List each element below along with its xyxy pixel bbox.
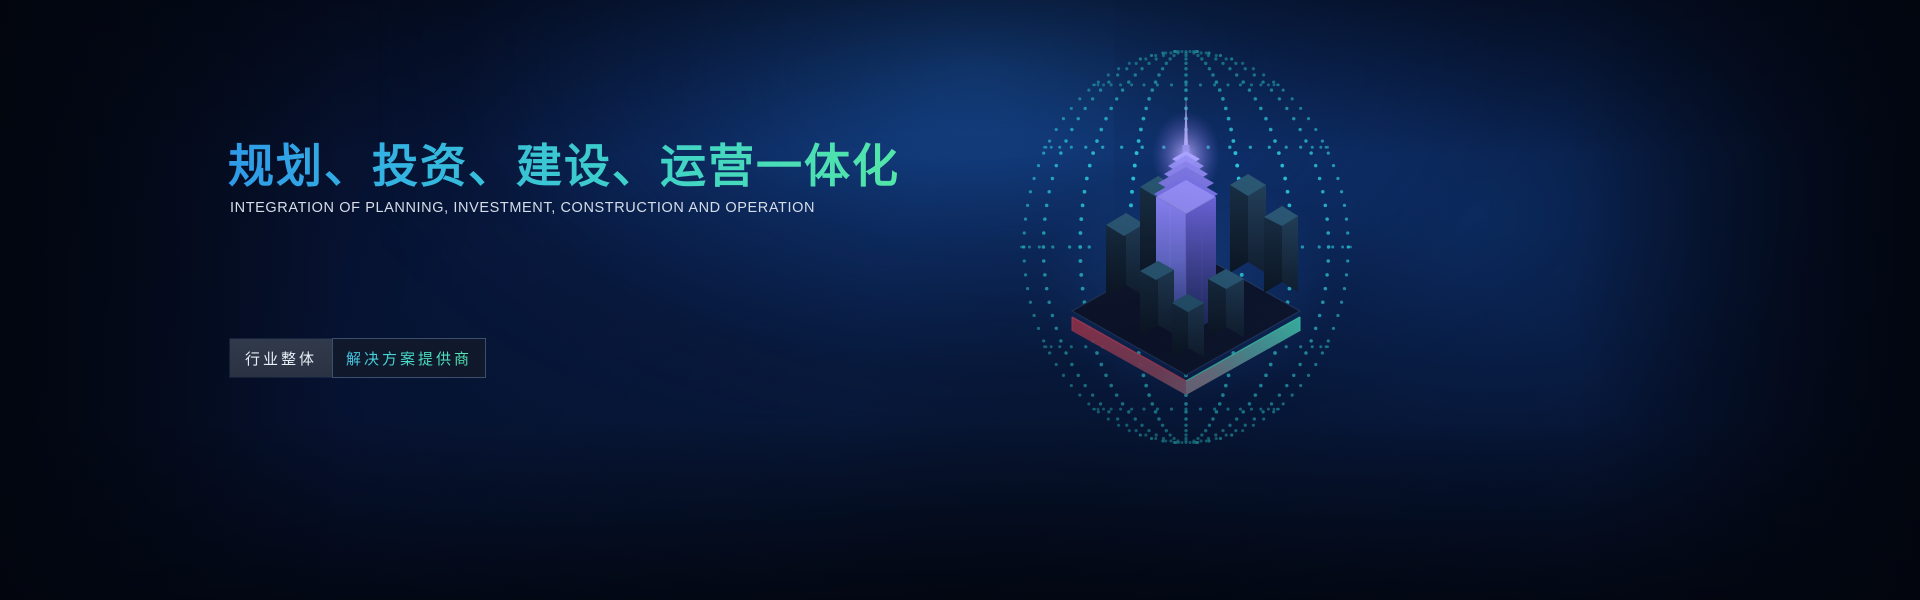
badge-right: 解决方案提供商 — [332, 338, 486, 378]
badge-right-label: 解决方案提供商 — [346, 348, 472, 369]
hero-banner: 规划、投资、建设、运营一体化 INTEGRATION OF PLANNING, … — [0, 0, 1920, 600]
badge-left-label: 行业整体 — [230, 339, 332, 377]
hero-copy: 规划、投资、建设、运营一体化 INTEGRATION OF PLANNING, … — [228, 0, 928, 600]
page-subtitle: INTEGRATION OF PLANNING, INVESTMENT, CON… — [230, 200, 815, 216]
page-title: 规划、投资、建设、运营一体化 — [228, 140, 900, 193]
status-badge[interactable]: 行业整体 解决方案提供商 — [230, 339, 485, 377]
